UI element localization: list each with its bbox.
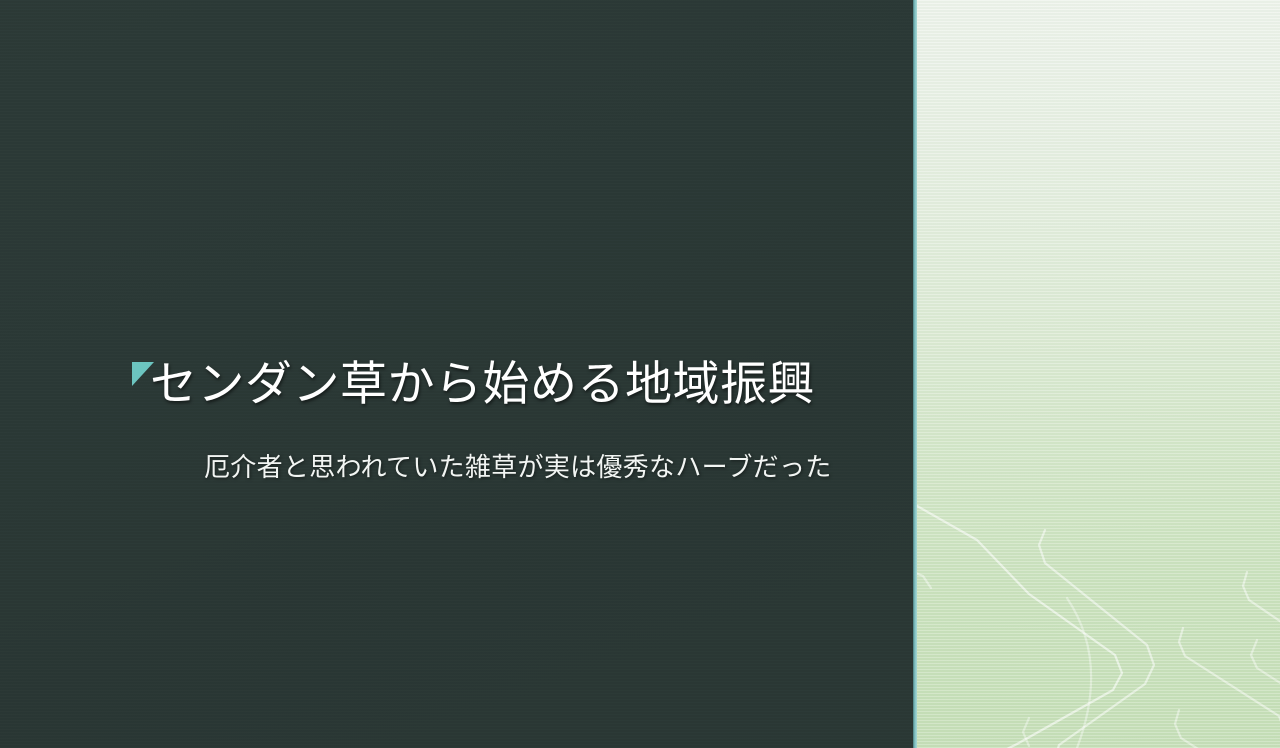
page-subtitle: 厄介者と思われていた雑草が実は優秀なハーブだった bbox=[204, 452, 832, 483]
panel-divider bbox=[913, 0, 917, 748]
page-title: センダン草から始める地域振興 bbox=[150, 358, 815, 411]
title-slide: センダン草から始める地域振興 厄介者と思われていた雑草が実は優秀なハーブだった bbox=[0, 0, 1280, 748]
chevron-outline-pattern bbox=[917, 0, 1280, 748]
right-light-panel bbox=[917, 0, 1280, 748]
